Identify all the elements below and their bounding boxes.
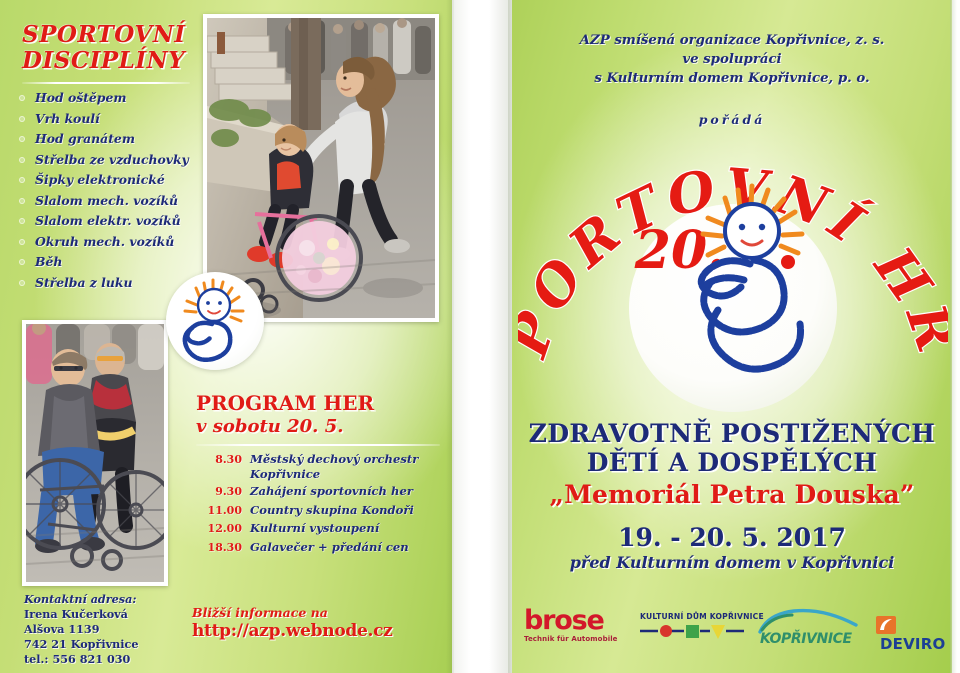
headline-line-1: ZDRAVOTNĚ POSTIŽENÝCH — [512, 420, 952, 449]
contact-name: Irena Kučerková — [24, 607, 138, 622]
program-schedule: 8.30Městský dechový orchestr Kopřivnice9… — [200, 452, 448, 558]
sponsor-koprivnice-wordmark: KOPŘIVNICE — [760, 630, 853, 646]
program-row: 8.30Městský dechový orchestr Kopřivnice — [200, 452, 448, 481]
organizer-line-3: s Kulturním domem Kopřivnice, p. o. — [512, 70, 952, 89]
more-info-block: Bližší informace na http://azp.webnode.c… — [192, 605, 392, 641]
contact-city: 742 21 Kopřivnice — [24, 637, 138, 652]
website-url[interactable]: http://azp.webnode.cz — [192, 621, 392, 641]
porada-label: pořádá — [512, 112, 952, 127]
organizer-header: AZP smíšená organizace Kopřivnice, z. s.… — [512, 32, 952, 89]
deviro-mark-icon — [876, 616, 896, 634]
program-subtitle: v sobotu 20. 5. — [196, 416, 446, 437]
more-info-label: Bližší informace na — [192, 605, 392, 620]
sponsor-brose[interactable]: brose Technik für Automobile — [524, 608, 618, 643]
discipline-item: Okruh mech. vozíků — [18, 234, 218, 249]
program-row: 12.00Kulturní vystoupení — [200, 521, 448, 537]
program-divider — [196, 444, 440, 446]
sponsor-brose-wordmark: brose — [524, 608, 618, 634]
sponsor-brose-tagline: Technik für Automobile — [524, 635, 618, 643]
disciplines-divider — [22, 82, 190, 84]
program-event: Městský dechový orchestr Kopřivnice — [250, 452, 448, 481]
program-time: 11.00 — [200, 503, 250, 519]
poster: SPORTOVNÍ DISCIPLÍNY Hod oštěpemVrh koul… — [0, 0, 960, 673]
disciplines-title: SPORTOVNÍ DISCIPLÍNY — [22, 22, 212, 74]
program-title: PROGRAM HER v sobotu 20. 5. — [196, 392, 446, 437]
sponsor-strip: brose Technik für Automobile KULTURNÍ DŮ… — [524, 604, 948, 650]
photo-girl-wheelchair — [203, 14, 439, 322]
emblem-main: SPORTOVNÍ HRY 20. — [518, 140, 948, 430]
main-headline-block: ZDRAVOTNĚ POSTIŽENÝCH DĚTÍ A DOSPĚLÝCH „… — [512, 420, 952, 572]
emblem-badge-small — [166, 272, 264, 370]
program-event: Zahájení sportovních her — [250, 484, 413, 499]
kulturni-dum-mark-icon — [640, 621, 744, 641]
program-event: Country skupina Kondoři — [250, 503, 414, 518]
organizer-line-1: AZP smíšená organizace Kopřivnice, z. s. — [512, 32, 952, 51]
discipline-item: Hod oštěpem — [18, 90, 218, 105]
disciplines-list: Hod oštěpemVrh koulíHod granátemStřelba … — [18, 90, 218, 295]
discipline-item: Hod granátem — [18, 131, 218, 146]
program-event: Galavečer + předání cen — [250, 540, 409, 555]
photo-two-men-wheelchairs — [22, 320, 168, 586]
discipline-item: Šipky elektronické — [18, 172, 218, 187]
sponsor-koprivnice[interactable]: KOPŘIVNICE — [756, 606, 864, 651]
discipline-item: Střelba ze vzduchovky — [18, 152, 218, 167]
event-place: před Kulturním domem v Kopřivnici — [512, 553, 952, 572]
discipline-item: Slalom mech. vozíků — [18, 193, 218, 208]
sponsor-kulturni-dum[interactable]: KULTURNÍ DŮM KOPŘIVNICE — [640, 612, 764, 646]
headline-line-2: DĚTÍ A DOSPĚLÝCH — [512, 449, 952, 478]
program-time: 12.00 — [200, 521, 250, 537]
contact-street: Alšova 1139 — [24, 622, 138, 637]
contact-phone: tel.: 556 821 030 — [24, 652, 138, 667]
sponsor-deviro[interactable]: DEVIRO — [876, 616, 948, 653]
program-time: 8.30 — [200, 452, 250, 468]
disciplines-title-line1: SPORTOVNÍ — [22, 22, 212, 48]
discipline-item: Slalom elektr. vozíků — [18, 213, 218, 228]
sponsor-kulturni-dum-wordmark: KULTURNÍ DŮM KOPŘIVNICE — [640, 612, 764, 621]
disciplines-title-line2: DISCIPLÍNY — [22, 48, 212, 74]
program-event: Kulturní vystoupení — [250, 521, 379, 536]
event-date: 19. - 20. 5. 2017 — [512, 523, 952, 552]
program-time: 9.30 — [200, 484, 250, 500]
panel-gutter — [452, 0, 512, 673]
program-row: 9.30Zahájení sportovních her — [200, 484, 448, 500]
program-title-main: PROGRAM HER — [196, 392, 446, 416]
sponsor-deviro-wordmark: DEVIRO — [880, 635, 945, 653]
contact-block: Kontaktní adresa: Irena Kučerková Alšova… — [24, 592, 138, 667]
memorial-name: „Memoriál Petra Douska” — [512, 480, 952, 509]
discipline-item: Běh — [18, 254, 218, 269]
right-outer-edge — [950, 0, 960, 673]
program-row: 11.00Country skupina Kondoři — [200, 503, 448, 519]
contact-label: Kontaktní adresa: — [24, 592, 138, 607]
discipline-item: Vrh koulí — [18, 111, 218, 126]
program-time: 18.30 — [200, 540, 250, 556]
program-row: 18.30Galavečer + předání cen — [200, 540, 448, 556]
organizer-line-2: ve spolupráci — [512, 51, 952, 70]
